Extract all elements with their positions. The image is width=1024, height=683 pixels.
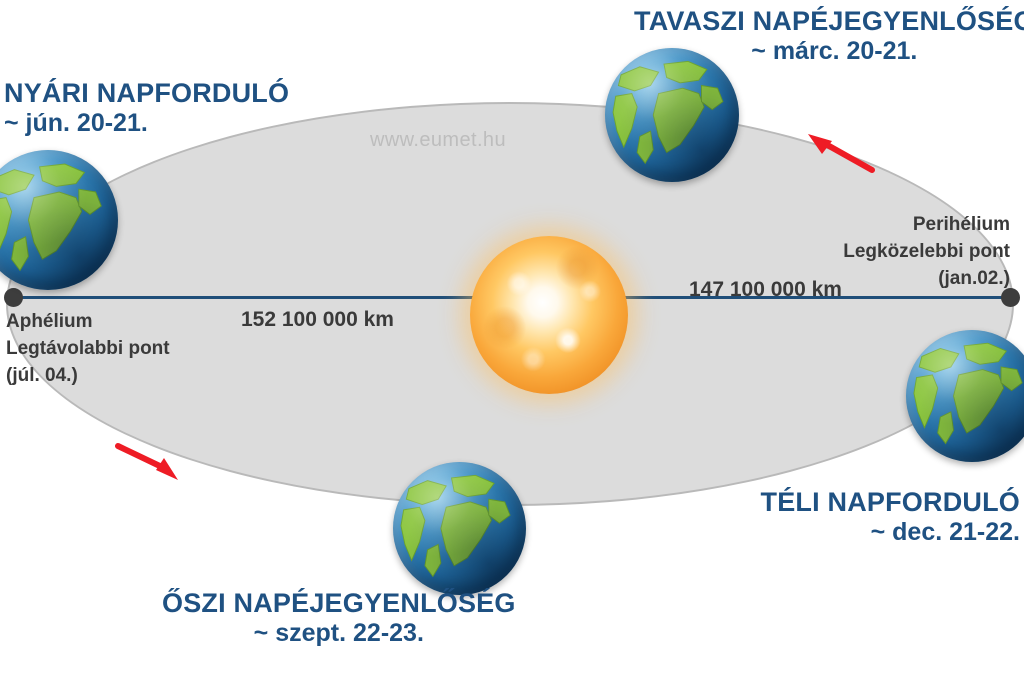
season-title: TÉLI NAPFORDULÓ: [761, 487, 1021, 518]
perihelion-date: (jan.02.): [843, 266, 1010, 293]
aphelion-vertex-dot-icon: [4, 288, 23, 307]
season-label-summer-solstice: NYÁRI NAPFORDULÓ ~ jún. 20-21.: [4, 78, 289, 138]
earth-globe-icon-winter: [906, 330, 1024, 462]
season-label-winter-solstice: TÉLI NAPFORDULÓ ~ dec. 21-22.: [761, 487, 1021, 547]
season-label-autumn-equinox: ŐSZI NAPÉJEGYENLŐSÉG ~ szept. 22-23.: [162, 588, 516, 648]
earth-shading: [393, 462, 526, 595]
aphelion-date: (júl. 04.): [6, 363, 170, 390]
season-label-spring-equinox: TAVASZI NAPÉJEGYENLŐSÉG ~ márc. 20-21.: [634, 6, 1024, 66]
season-title: TAVASZI NAPÉJEGYENLŐSÉG: [634, 6, 1024, 37]
earth-shading: [605, 48, 739, 182]
orbit-diagram-canvas: www.eumet.hu: [0, 0, 1024, 683]
season-date: ~ szept. 22-23.: [162, 619, 516, 648]
perihelion-description: Legközelebbi pont: [843, 239, 1010, 266]
watermark-text: www.eumet.hu: [370, 129, 506, 152]
season-date: ~ jún. 20-21.: [4, 109, 289, 138]
earth-globe-icon-summer: [0, 150, 118, 290]
orbit-direction-arrow-icon-bottom-left: [112, 440, 192, 490]
sun-surface-texture: [470, 236, 628, 394]
season-title: ŐSZI NAPÉJEGYENLŐSÉG: [162, 588, 516, 619]
season-date: ~ márc. 20-21.: [634, 37, 1024, 66]
aphelion-description: Legtávolabbi pont: [6, 336, 170, 363]
earth-globe-icon-autumn: [393, 462, 526, 595]
aphelion-name: Aphélium: [6, 309, 170, 336]
perihelion-distance-label: 147 100 000 km: [689, 278, 842, 302]
sun-icon: [470, 236, 628, 394]
aphelion-distance-label: 152 100 000 km: [241, 308, 394, 332]
orbit-direction-arrow-icon-top-right: [800, 128, 880, 178]
perihelion-name: Perihélium: [843, 212, 1010, 239]
earth-globe-icon-spring: [605, 48, 739, 182]
aphelion-annotation: Aphélium Legtávolabbi pont (júl. 04.): [6, 309, 170, 390]
season-date: ~ dec. 21-22.: [761, 518, 1021, 547]
season-title: NYÁRI NAPFORDULÓ: [4, 78, 289, 109]
perihelion-annotation: Perihélium Legközelebbi pont (jan.02.): [843, 212, 1010, 293]
